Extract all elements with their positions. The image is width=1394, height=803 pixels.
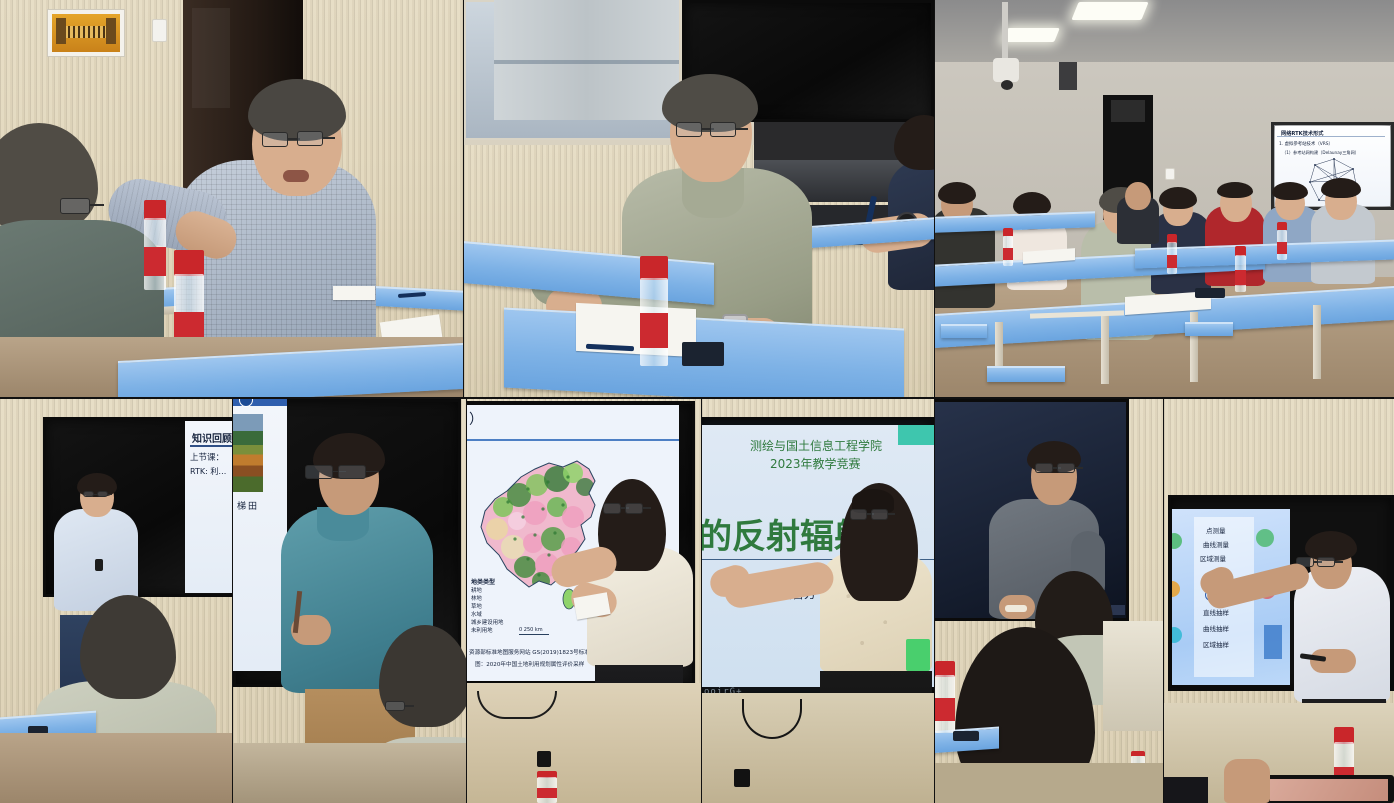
- judge-glasses-right: [710, 122, 736, 137]
- lecturer-glasses-right: [97, 491, 108, 497]
- lecturer-glasses: [305, 465, 333, 479]
- scene-blackboard: [935, 399, 1163, 803]
- stool-1: [941, 324, 987, 338]
- scene-title-slide: 测绘与国土信息工程学院 2023年教学竞赛 的反射辐射 吴喜芳 ooirG+: [702, 399, 934, 803]
- smartphone[interactable]: [1195, 288, 1225, 298]
- panel-seated-judge[interactable]: [464, 0, 934, 397]
- floor: [0, 733, 232, 803]
- presenter-glasses: [850, 509, 867, 520]
- slide-caption: 梯田: [237, 499, 259, 512]
- panel-lecturer-terraced-fields[interactable]: 梯田: [233, 399, 466, 803]
- legend-item: 水域: [471, 610, 503, 618]
- water-bottle-4[interactable]: [1277, 222, 1287, 260]
- slide-item: 直线抽样: [1203, 607, 1229, 617]
- presenter-glasses-right: [871, 509, 888, 520]
- chalk[interactable]: [1005, 605, 1027, 612]
- water-bottle-3[interactable]: [1235, 246, 1246, 292]
- ceiling-light-1: [1071, 2, 1148, 20]
- legend-title: 地类类型: [471, 577, 503, 586]
- wall-switch[interactable]: [1165, 168, 1175, 180]
- water-bottle-2[interactable]: [1167, 234, 1177, 274]
- audience-hand: [1224, 759, 1270, 803]
- power-plug: [537, 751, 551, 767]
- listener-glasses: [385, 701, 405, 711]
- scene-seated-judge: [464, 0, 934, 397]
- listener-glasses: [60, 198, 90, 214]
- ceiling-light-2: [1002, 28, 1060, 42]
- scene-classroom: 网络RTK技术形式 1. 虚拟参考站技术（VRS） （1）参考站网构建（Dela…: [935, 0, 1394, 397]
- slide-header-line-2: 2023年教学竞赛: [770, 455, 861, 472]
- panel-lecturer-blackboard[interactable]: [935, 399, 1163, 803]
- terraced-field-photo: [233, 414, 263, 492]
- lecturer-torso: [1294, 567, 1390, 703]
- green-folder: [906, 639, 930, 671]
- framed-electrical-panel: [47, 9, 125, 57]
- presenter-glasses: [603, 503, 621, 514]
- legend-item: 林地: [471, 594, 503, 602]
- scale-bar: 0 250 km: [519, 627, 549, 635]
- lecturer-glasses: [1035, 463, 1053, 473]
- speaker-glasses-right: [297, 131, 323, 146]
- floor: [935, 763, 1163, 803]
- water-bottle-1[interactable]: [1003, 228, 1013, 266]
- slide-footnote-1: 资源部标准地图服务网站 GS(2019)1823号标准地图: [469, 648, 601, 656]
- stool-3: [1185, 322, 1233, 336]
- slide-item: 曲线抽样: [1203, 623, 1229, 633]
- slide-corner-accent: [898, 425, 934, 445]
- scale-bar-label: 0 250 km: [519, 627, 549, 633]
- panel-discussion-at-desk[interactable]: [0, 0, 463, 397]
- projector: [993, 58, 1019, 82]
- panel-lecturer-knowledge-review[interactable]: 知识回顾 上节课： RTK: 利…: [0, 399, 232, 803]
- slide: 知识回顾 上节课： RTK: 利…: [185, 421, 232, 593]
- lecturer-glasses-right: [1317, 557, 1335, 567]
- speaker-box: [1059, 62, 1077, 90]
- lecturer-hand-right: [1310, 649, 1356, 673]
- panel-lecturer-title-slide[interactable]: 测绘与国土信息工程学院 2023年教学竞赛 的反射辐射 吴喜芳 ooirG+: [702, 399, 934, 803]
- slide-title: 知识回顾: [192, 430, 232, 445]
- scene-knowledge-review: 知识回顾 上节课： RTK: 利…: [0, 399, 232, 803]
- power-plug: [734, 769, 750, 787]
- slide-item: 曲线测量: [1203, 539, 1229, 549]
- map-legend: 地类类型 耕地 林地 草地 水域 城乡建设用地 未利用地: [471, 577, 503, 634]
- photo-collage: 网络RTK技术形式 1. 虚拟参考站技术（VRS） （1）参考站网构建（Dela…: [0, 0, 1394, 803]
- water-bottle[interactable]: [935, 661, 955, 733]
- lecturer-glasses-right: [1057, 463, 1075, 473]
- scene-pointing-slide: 点测量 曲线测量 区域测量 点抽样 直线抽样 曲线抽样 区域抽样: [1164, 399, 1394, 803]
- legend-item: 城乡建设用地: [471, 618, 503, 626]
- panel-classroom-audience[interactable]: 网络RTK技术形式 1. 虚拟参考站技术（VRS） （1）参考站网构建（Dela…: [935, 0, 1394, 397]
- panel-lecturer-land-use-map[interactable]: ）: [467, 399, 701, 803]
- smartphone[interactable]: [682, 342, 724, 366]
- presenter-glasses-right: [625, 503, 643, 514]
- speaker-glasses: [262, 132, 288, 147]
- water-bottle[interactable]: [537, 771, 557, 803]
- slide-line-1: 上节课：: [190, 451, 224, 463]
- slide-line-1: 1. 虚拟参考站技术（VRS）: [1279, 141, 1333, 147]
- slide-footnote-2: 图：2020年中国土地利用规划属性评价采样: [475, 660, 584, 668]
- light-switch[interactable]: [152, 19, 167, 42]
- clicker-remote[interactable]: [95, 559, 103, 571]
- water-bottle-far[interactable]: [144, 200, 166, 290]
- slide-header-line-1: 测绘与国土信息工程学院: [750, 437, 882, 454]
- slide-item: 区域抽样: [1203, 639, 1229, 649]
- scene-discussion: [0, 0, 463, 397]
- floor: [233, 743, 466, 803]
- stool-2: [987, 366, 1065, 382]
- legend-item: 未利用地: [471, 626, 503, 634]
- legend-item: 草地: [471, 602, 503, 610]
- water-bottle[interactable]: [640, 256, 668, 366]
- lecturer-glasses-right: [338, 465, 366, 479]
- slide-title: ）: [469, 409, 483, 429]
- scene-terraced-fields: 梯田: [233, 399, 466, 803]
- slide: 梯田: [233, 399, 287, 671]
- smartphone[interactable]: [953, 731, 979, 741]
- judge-glasses: [676, 122, 702, 137]
- panel-lecturer-pointing-slide[interactable]: 点测量 曲线测量 区域测量 点抽样 直线抽样 曲线抽样 区域抽样: [1164, 399, 1394, 803]
- lecturer-glasses: [83, 491, 94, 497]
- scene-land-use-map: ）: [467, 399, 701, 803]
- slide-item: 点测量: [1206, 525, 1226, 535]
- legend-item: 耕地: [471, 586, 503, 594]
- paper-on-desk: [333, 286, 375, 300]
- slide-item: 区域测量: [1200, 553, 1226, 563]
- slide-line-2: RTK: 利…: [190, 466, 226, 477]
